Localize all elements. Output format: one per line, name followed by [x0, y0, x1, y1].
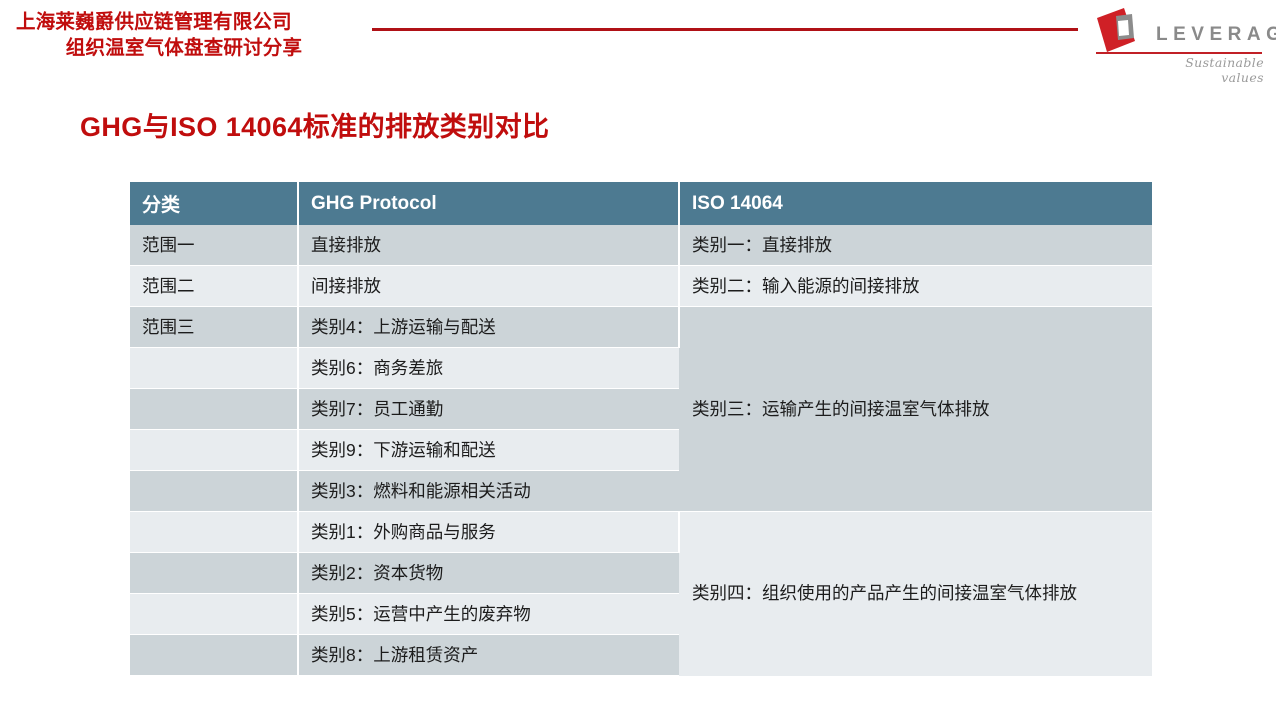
cell-scope: 范围一 — [130, 225, 298, 266]
cell-iso: 类别一：直接排放 — [679, 225, 1152, 266]
table-row: 范围二 间接排放 类别二：输入能源的间接排放 — [130, 266, 1152, 307]
table-body: 范围一 直接排放 类别一：直接排放 范围二 间接排放 类别二：输入能源的间接排放… — [130, 225, 1152, 676]
logo-mark-icon — [1094, 8, 1142, 56]
cell-ghg: 类别8：上游租赁资产 — [298, 635, 679, 676]
cell-ghg: 类别5：运营中产生的废弃物 — [298, 594, 679, 635]
table-header: 分类 GHG Protocol ISO 14064 — [130, 182, 1152, 225]
cell-ghg: 类别6：商务差旅 — [298, 348, 679, 389]
column-header-ghg-protocol: GHG Protocol — [298, 182, 679, 225]
table-row: 类别1：外购商品与服务 类别四：组织使用的产品产生的间接温室气体排放 — [130, 512, 1152, 553]
company-title: 上海莱巍爵供应链管理有限公司 组织温室气体盘查研讨分享 — [14, 9, 374, 61]
column-header-category: 分类 — [130, 182, 298, 225]
cell-iso-category-four: 类别四：组织使用的产品产生的间接温室气体排放 — [679, 512, 1152, 676]
cell-ghg: 间接排放 — [298, 266, 679, 307]
cell-scope — [130, 430, 298, 471]
company-title-line-1: 上海莱巍爵供应链管理有限公司 — [14, 9, 374, 35]
header-divider-rule — [372, 28, 1078, 31]
page-title: GHG与ISO 14064标准的排放类别对比 — [80, 105, 549, 144]
cell-ghg: 类别3：燃料和能源相关活动 — [298, 471, 679, 512]
cell-ghg: 类别1：外购商品与服务 — [298, 512, 679, 553]
table-header-row: 分类 GHG Protocol ISO 14064 — [130, 182, 1152, 225]
cell-scope — [130, 471, 298, 512]
cell-scope — [130, 512, 298, 553]
cell-ghg: 类别7：员工通勤 — [298, 389, 679, 430]
cell-scope: 范围三 — [130, 307, 298, 348]
logo-tagline: Sustainable values — [1144, 55, 1264, 85]
cell-iso: 类别二：输入能源的间接排放 — [679, 266, 1152, 307]
cell-ghg: 类别4：上游运输与配送 — [298, 307, 679, 348]
cell-scope — [130, 635, 298, 676]
cell-iso-category-three: 类别三：运输产生的间接温室气体排放 — [679, 307, 1152, 512]
cell-scope — [130, 389, 298, 430]
cell-scope — [130, 553, 298, 594]
emission-category-comparison-table: 分类 GHG Protocol ISO 14064 范围一 直接排放 类别一：直… — [130, 182, 1152, 676]
cell-scope: 范围二 — [130, 266, 298, 307]
cell-ghg: 类别9：下游运输和配送 — [298, 430, 679, 471]
table-row: 范围三 类别4：上游运输与配送 类别三：运输产生的间接温室气体排放 — [130, 307, 1152, 348]
cell-scope — [130, 594, 298, 635]
table-row: 范围一 直接排放 类别一：直接排放 — [130, 225, 1152, 266]
logo-underline — [1096, 52, 1262, 54]
cell-ghg: 类别2：资本货物 — [298, 553, 679, 594]
leverage-logo: LEVERAGE Sustainable values — [1094, 6, 1264, 78]
cell-ghg: 直接排放 — [298, 225, 679, 266]
company-title-line-2: 组织温室气体盘查研讨分享 — [14, 35, 374, 61]
cell-scope — [130, 348, 298, 389]
column-header-iso-14064: ISO 14064 — [679, 182, 1152, 225]
logo-wordmark: LEVERAGE — [1156, 24, 1276, 46]
slide-header: 上海莱巍爵供应链管理有限公司 组织温室气体盘查研讨分享 LEVERAGE Sus… — [0, 0, 1276, 88]
